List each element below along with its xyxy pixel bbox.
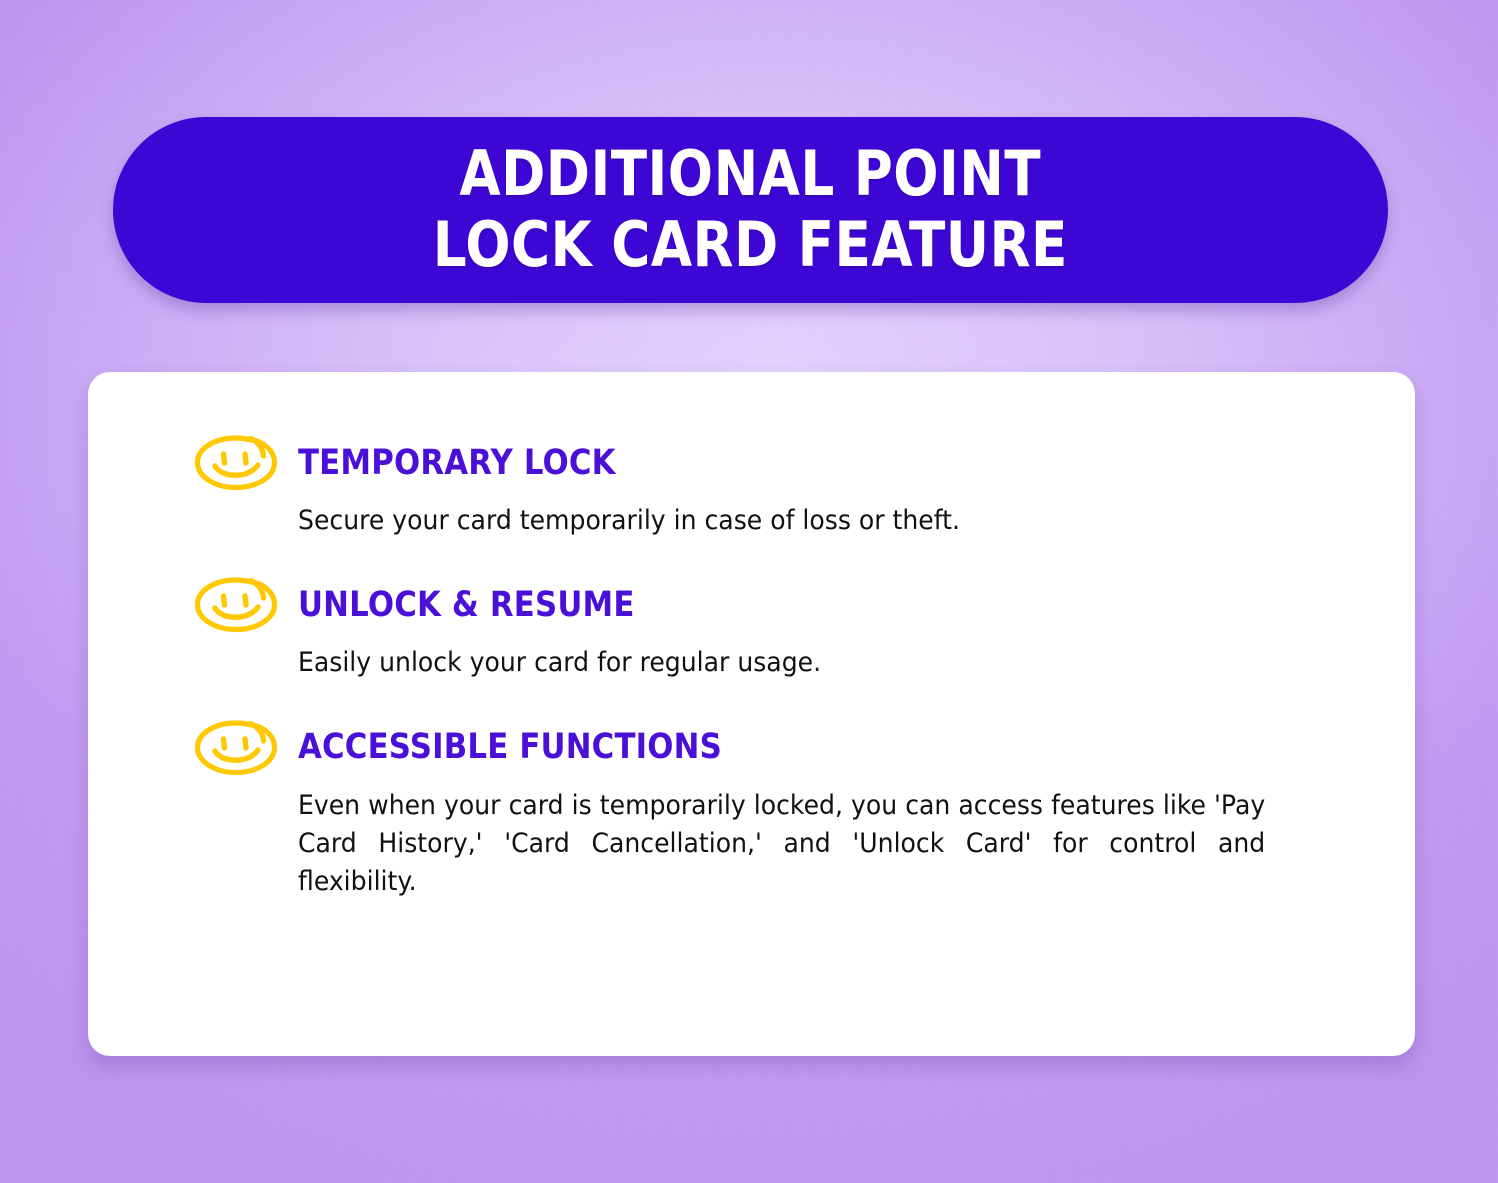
smiley-face-icon: [194, 719, 278, 777]
features-card: TEMPORARY LOCK Secure your card temporar…: [88, 372, 1415, 1056]
feature-item-accessible-functions: ACCESSIBLE FUNCTIONS Even when your card…: [194, 719, 1349, 902]
smiley-face-icon: [194, 576, 278, 634]
feature-header: UNLOCK & RESUME: [194, 576, 1349, 634]
smiley-face-icon: [194, 434, 278, 492]
feature-description: Secure your card temporarily in case of …: [298, 502, 1265, 540]
feature-title: TEMPORARY LOCK: [298, 446, 616, 481]
feature-title: UNLOCK & RESUME: [298, 588, 635, 623]
slide-root: ADDITIONAL POINT LOCK CARD FEATURE TEMPO…: [0, 0, 1498, 1183]
feature-description: Easily unlock your card for regular usag…: [298, 644, 1265, 682]
header-banner: ADDITIONAL POINT LOCK CARD FEATURE: [113, 117, 1388, 303]
feature-item-unlock-resume: UNLOCK & RESUME Easily unlock your card …: [194, 576, 1349, 682]
page-title: ADDITIONAL POINT LOCK CARD FEATURE: [433, 139, 1068, 280]
feature-header: ACCESSIBLE FUNCTIONS: [194, 719, 1349, 777]
feature-description: Even when your card is temporarily locke…: [298, 787, 1265, 902]
feature-header: TEMPORARY LOCK: [194, 434, 1349, 492]
feature-title: ACCESSIBLE FUNCTIONS: [298, 730, 722, 765]
feature-item-temporary-lock: TEMPORARY LOCK Secure your card temporar…: [194, 434, 1349, 540]
